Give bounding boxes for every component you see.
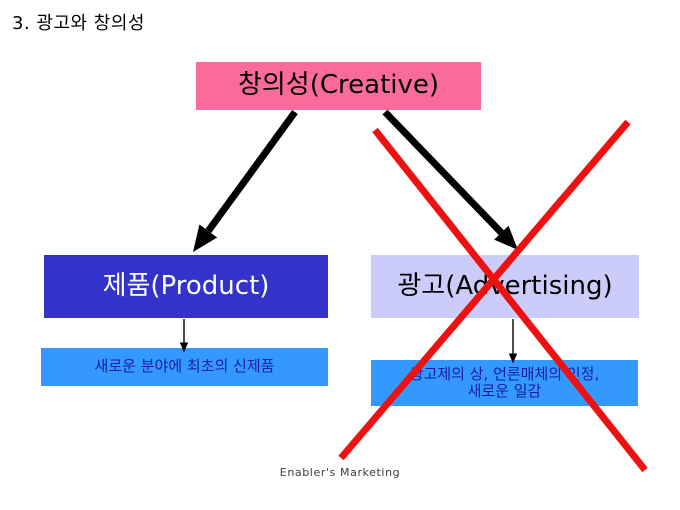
slide-canvas: 3. 광고와 창의성 창의성(Creative) 제품(Product) 광고(… bbox=[0, 0, 680, 510]
arrow-creative-to-product bbox=[193, 112, 295, 252]
node-product-result-label: 새로운 분야에 최초의 신제품 bbox=[95, 358, 275, 375]
node-product[interactable]: 제품(Product) bbox=[44, 255, 328, 318]
page-title: 3. 광고와 창의성 bbox=[12, 9, 145, 35]
arrow-creative-to-advertising bbox=[385, 112, 518, 250]
node-advertising-result[interactable]: 광고제의 상, 언론매체의 인정, 새로운 일감 bbox=[371, 360, 638, 406]
node-advertising[interactable]: 광고(Advertising) bbox=[371, 255, 639, 318]
footer-branding: Enabler's Marketing bbox=[0, 466, 680, 479]
node-advertising-result-label: 광고제의 상, 언론매체의 인정, 새로운 일감 bbox=[410, 366, 599, 401]
node-creative-label: 창의성(Creative) bbox=[238, 71, 439, 101]
node-creative[interactable]: 창의성(Creative) bbox=[196, 62, 481, 110]
node-product-label: 제품(Product) bbox=[103, 272, 270, 302]
node-advertising-label: 광고(Advertising) bbox=[397, 272, 612, 302]
node-product-result[interactable]: 새로운 분야에 최초의 신제품 bbox=[41, 348, 328, 386]
